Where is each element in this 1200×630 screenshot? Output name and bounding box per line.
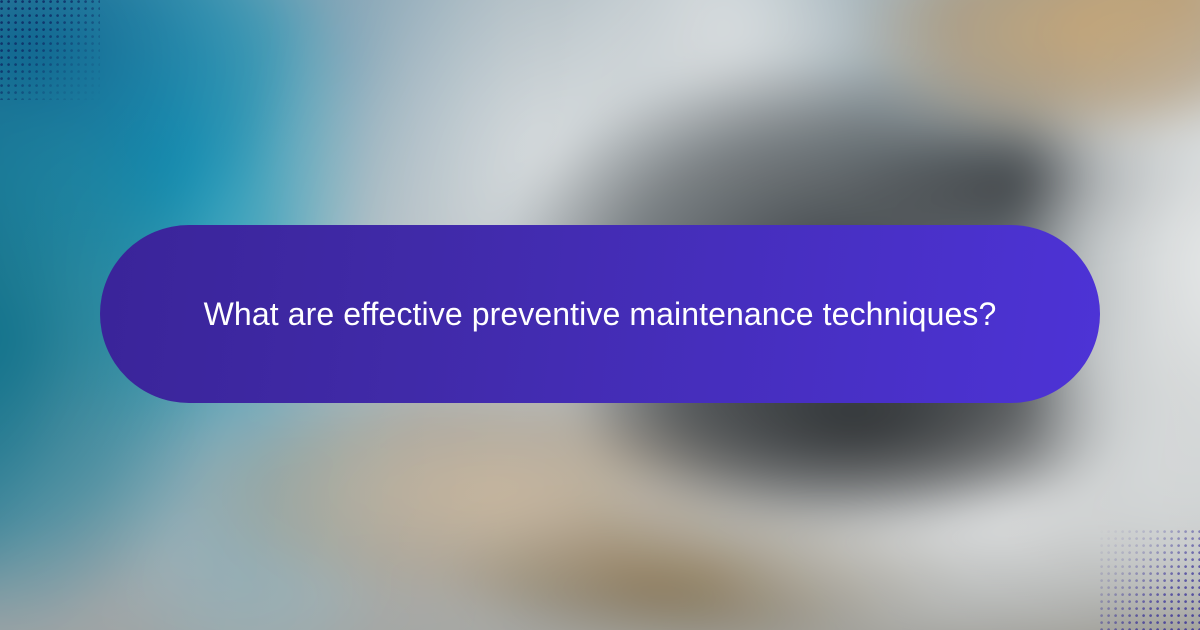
halftone-dots-top-left-icon (0, 0, 100, 100)
question-pill: What are effective preventive maintenanc… (100, 225, 1100, 403)
social-card: What are effective preventive maintenanc… (0, 0, 1200, 630)
halftone-dots-bottom-right-icon (1100, 530, 1200, 630)
question-text: What are effective preventive maintenanc… (204, 285, 997, 343)
